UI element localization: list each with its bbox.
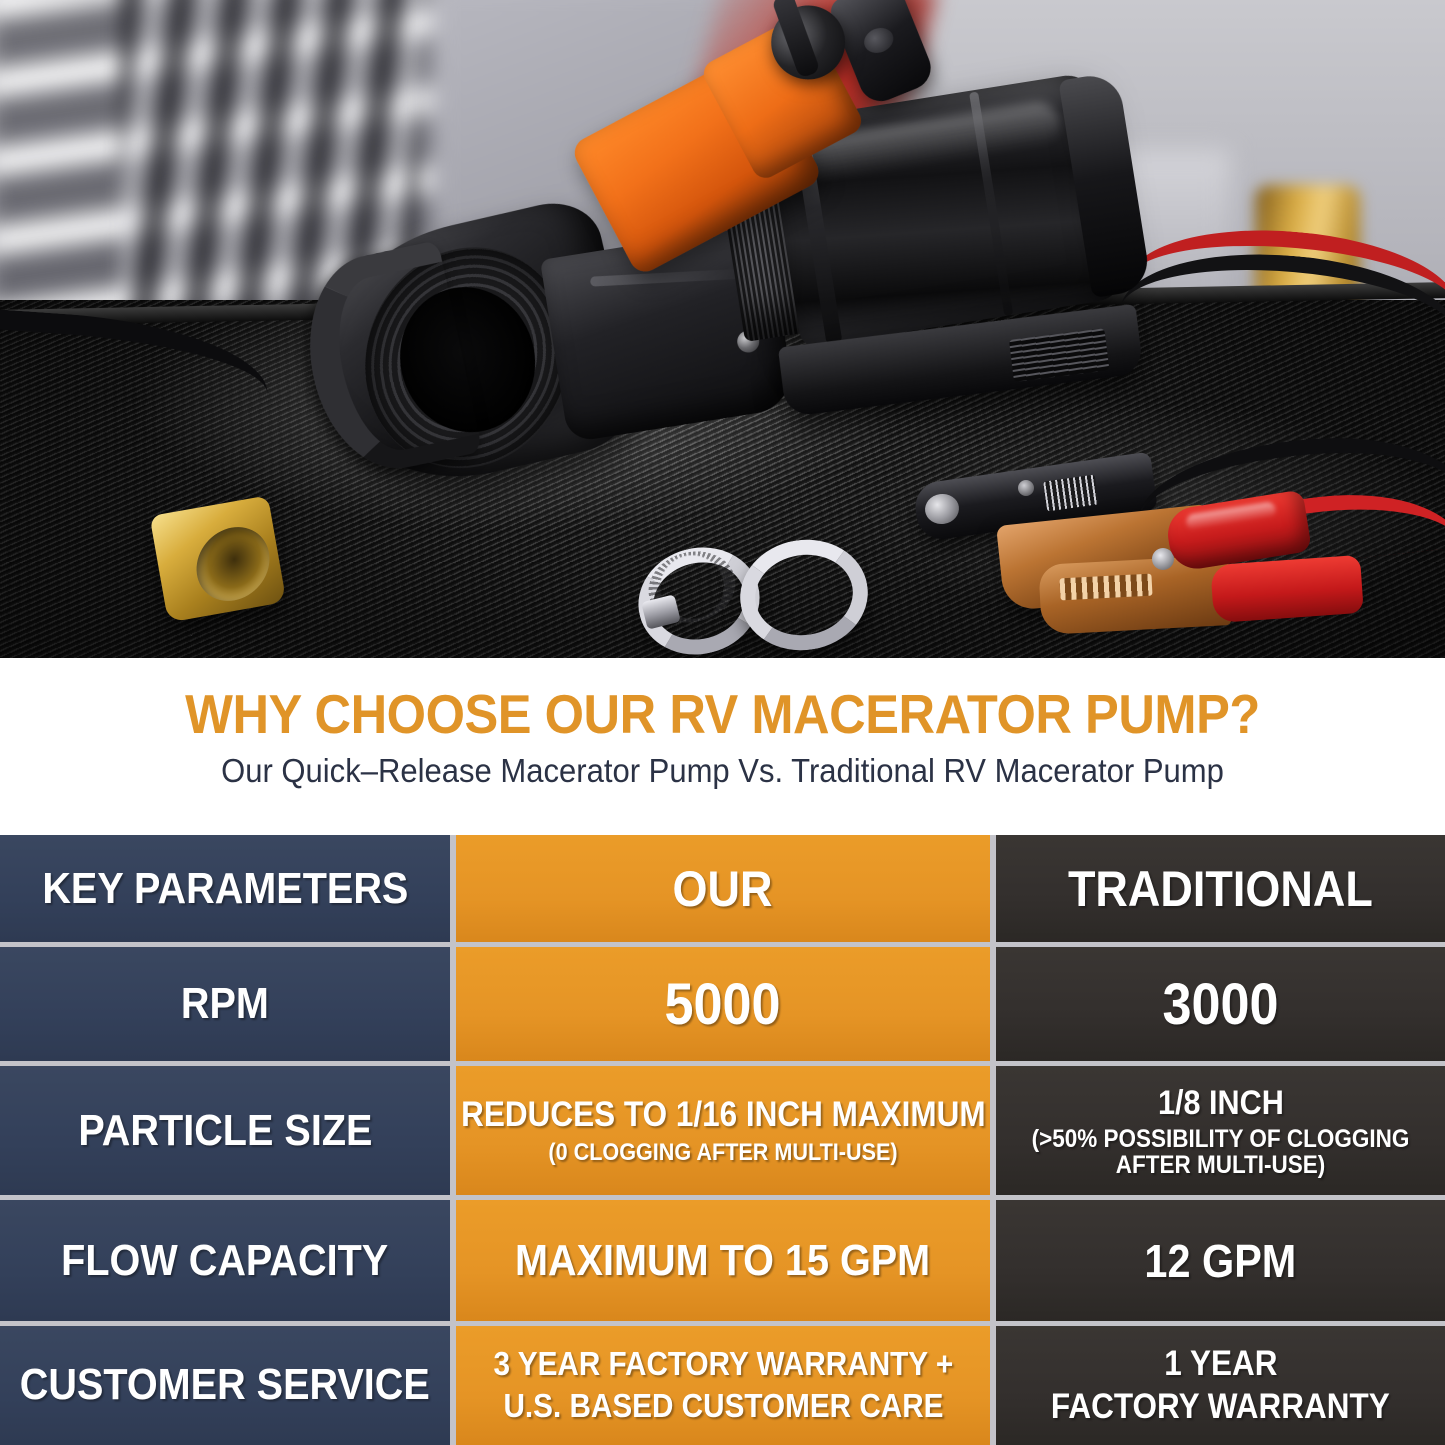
table-row-header: KEY PARAMETERS OUR TRADITIONAL: [0, 835, 1445, 942]
value-traditional-customer-service-1: 1 YEAR: [1164, 1344, 1277, 1384]
label-rpm: RPM: [181, 979, 269, 1029]
product-hero-image: [0, 0, 1445, 658]
note-our-particle-size: (0 CLOGGING AFTER MULTI-USE): [548, 1139, 897, 1167]
red-clamp-boot-lower: [1210, 555, 1364, 623]
cell-traditional-header: TRADITIONAL: [996, 835, 1445, 942]
value-traditional-particle-size: 1/8 INCH: [1158, 1084, 1284, 1123]
label-key-parameters: KEY PARAMETERS: [42, 864, 408, 914]
value-our-customer-service-2: U.S. BASED CUSTOMER CARE: [503, 1387, 943, 1425]
cell-traditional-rpm: 3000: [996, 947, 1445, 1061]
table-row-rpm: RPM 5000 3000: [0, 947, 1445, 1061]
label-traditional: TRADITIONAL: [1068, 860, 1373, 918]
comparison-table: KEY PARAMETERS OUR TRADITIONAL RPM 5000 …: [0, 835, 1445, 1445]
cell-parameter-customer-service: CUSTOMER SERVICE: [0, 1326, 450, 1445]
table-row-flow-capacity: FLOW CAPACITY MAXIMUM TO 15 GPM 12 GPM: [0, 1200, 1445, 1321]
label-particle-size: PARTICLE SIZE: [78, 1106, 372, 1156]
cell-our-header: OUR: [456, 835, 990, 942]
cell-our-particle-size: REDUCES TO 1/16 INCH MAXIMUM (0 CLOGGING…: [456, 1066, 990, 1195]
value-our-customer-service-1: 3 YEAR FACTORY WARRANTY +: [493, 1345, 953, 1383]
cell-traditional-particle-size: 1/8 INCH (>50% POSSIBILITY OF CLOGGING A…: [996, 1066, 1445, 1195]
value-traditional-customer-service-2: FACTORY WARRANTY: [1051, 1387, 1390, 1427]
note-traditional-particle-size: (>50% POSSIBILITY OF CLOGGING AFTER MULT…: [1029, 1126, 1412, 1178]
value-traditional-flow-capacity: 12 GPM: [1145, 1234, 1297, 1288]
value-traditional-rpm: 3000: [1162, 971, 1278, 1038]
cell-our-flow-capacity: MAXIMUM TO 15 GPM: [456, 1200, 990, 1321]
label-customer-service: CUSTOMER SERVICE: [20, 1360, 430, 1410]
page-subtitle: Our Quick–Release Macerator Pump Vs. Tra…: [43, 743, 1401, 789]
table-row-customer-service: CUSTOMER SERVICE 3 YEAR FACTORY WARRANTY…: [0, 1326, 1445, 1445]
cell-parameter-particle-size: PARTICLE SIZE: [0, 1066, 450, 1195]
heading-block: WHY CHOOSE OUR RV MACERATOR PUMP? Our Qu…: [0, 658, 1445, 835]
label-flow-capacity: FLOW CAPACITY: [61, 1236, 388, 1286]
cell-parameter-flow-capacity: FLOW CAPACITY: [0, 1200, 450, 1321]
cell-our-rpm: 5000: [456, 947, 990, 1061]
table-row-particle-size: PARTICLE SIZE REDUCES TO 1/16 INCH MAXIM…: [0, 1066, 1445, 1195]
label-our: OUR: [673, 860, 773, 918]
cell-parameter-rpm: RPM: [0, 947, 450, 1061]
cell-our-customer-service: 3 YEAR FACTORY WARRANTY + U.S. BASED CUS…: [456, 1326, 990, 1445]
page-title: WHY CHOOSE OUR RV MACERATOR PUMP?: [58, 658, 1387, 743]
cell-traditional-flow-capacity: 12 GPM: [996, 1200, 1445, 1321]
value-our-particle-size: REDUCES TO 1/16 INCH MAXIMUM: [461, 1095, 985, 1135]
cell-parameter-header: KEY PARAMETERS: [0, 835, 450, 942]
plug-screw: [1018, 480, 1034, 496]
cell-traditional-customer-service: 1 YEAR FACTORY WARRANTY: [996, 1326, 1445, 1445]
value-our-flow-capacity: MAXIMUM TO 15 GPM: [515, 1236, 930, 1286]
value-our-rpm: 5000: [665, 971, 781, 1038]
